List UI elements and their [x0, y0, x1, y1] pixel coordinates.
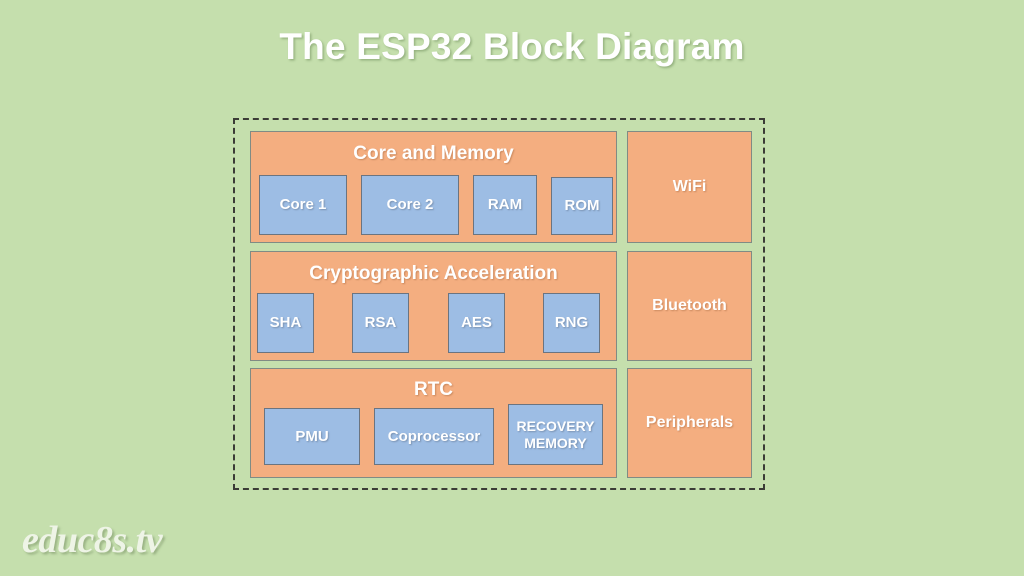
- block-ram[interactable]: RAM: [473, 175, 537, 235]
- block-label-wifi: WiFi: [628, 178, 751, 196]
- block-recovery-memory[interactable]: RECOVERY MEMORY: [508, 404, 603, 465]
- block-rsa[interactable]: RSA: [352, 293, 409, 353]
- group-title-cryptographic-acceleration: Cryptographic Acceleration: [251, 263, 616, 285]
- block-label-peripherals: Peripherals: [628, 414, 751, 432]
- block-pmu[interactable]: PMU: [264, 408, 360, 465]
- block-peripherals[interactable]: Peripherals: [627, 368, 752, 478]
- block-bluetooth[interactable]: Bluetooth: [627, 251, 752, 361]
- block-core-1[interactable]: Core 1: [259, 175, 347, 235]
- block-core-2[interactable]: Core 2: [361, 175, 459, 235]
- watermark: educ8s.tv: [22, 518, 162, 562]
- page-title: The ESP32 Block Diagram: [0, 26, 1024, 68]
- block-label-bluetooth: Bluetooth: [628, 297, 751, 315]
- block-coprocessor[interactable]: Coprocessor: [374, 408, 494, 465]
- block-wifi[interactable]: WiFi: [627, 131, 752, 243]
- block-rom[interactable]: ROM: [551, 177, 613, 235]
- block-rng[interactable]: RNG: [543, 293, 600, 353]
- group-title-rtc: RTC: [251, 379, 616, 401]
- block-sha[interactable]: SHA: [257, 293, 314, 353]
- group-title-core-and-memory: Core and Memory: [251, 143, 616, 165]
- block-aes[interactable]: AES: [448, 293, 505, 353]
